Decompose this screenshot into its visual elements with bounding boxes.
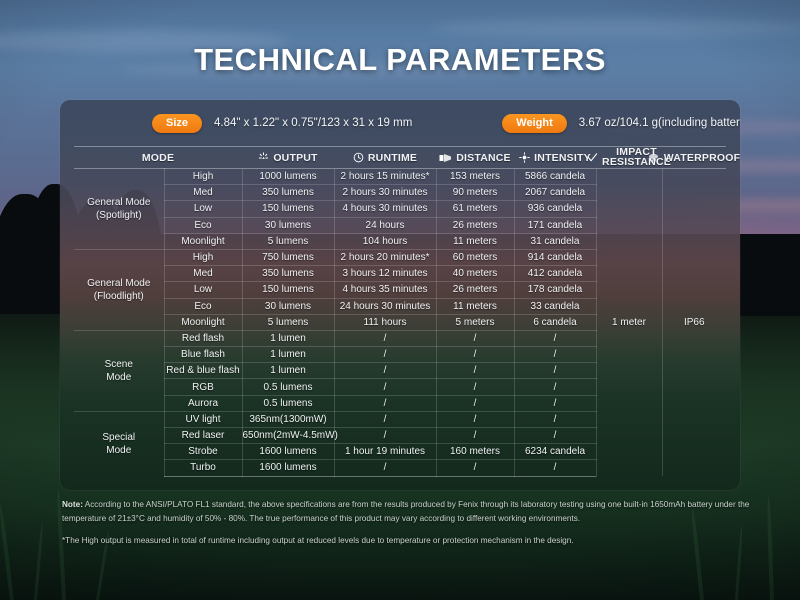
- parameters-table: MODE OUTPUT: [74, 146, 726, 477]
- cell-runtime: 4 hours 30 minutes: [334, 201, 436, 217]
- intensity-burst-icon: [519, 152, 530, 163]
- cell-distance: /: [436, 460, 514, 476]
- note-ansi: Note: According to the ANSI/PLATO FL1 st…: [62, 498, 752, 526]
- impact-resistance-value: 1 meter: [596, 169, 662, 477]
- cell-level: High: [164, 249, 242, 265]
- group-label-line2: Mode: [106, 445, 131, 456]
- cell-intensity: /: [514, 428, 596, 444]
- cell-output: 750 lumens: [242, 249, 334, 265]
- cell-runtime: 24 hours: [334, 217, 436, 233]
- cell-intensity: /: [514, 395, 596, 411]
- cell-runtime: /: [334, 460, 436, 476]
- header-output: OUTPUT: [242, 147, 334, 169]
- cell-level: Red laser: [164, 428, 242, 444]
- cell-distance: 153 meters: [436, 169, 514, 185]
- header-impact-resistance-label: IMPACT RESISTANCE: [602, 148, 671, 167]
- waterproof-value: IP66: [662, 169, 726, 477]
- cell-output: 150 lumens: [242, 201, 334, 217]
- weight-value: 3.67 oz/104.1 g(including battery): [579, 117, 740, 129]
- group-label-scene-mode: SceneMode: [74, 330, 164, 411]
- size-value: 4.84" x 1.22" x 0.75"/123 x 31 x 19 mm: [214, 117, 412, 129]
- cell-runtime: 1 hour 19 minutes: [334, 444, 436, 460]
- group-label-special-mode: SpecialMode: [74, 411, 164, 476]
- cell-level: Med: [164, 185, 242, 201]
- weight-spec: Weight 3.67 oz/104.1 g(including battery…: [502, 114, 740, 133]
- cell-level: Eco: [164, 217, 242, 233]
- header-distance-label: DISTANCE: [456, 152, 511, 164]
- group-label-line2: (Spotlight): [96, 210, 142, 221]
- cell-intensity: 178 candela: [514, 282, 596, 298]
- cell-level: Aurora: [164, 395, 242, 411]
- cell-runtime: /: [334, 347, 436, 363]
- cell-runtime: 24 hours 30 minutes: [334, 298, 436, 314]
- cell-runtime: 2 hours 30 minutes: [334, 185, 436, 201]
- cell-distance: 60 meters: [436, 249, 514, 265]
- cell-intensity: /: [514, 363, 596, 379]
- cell-output: 350 lumens: [242, 185, 334, 201]
- clock-icon: [353, 152, 364, 163]
- header-intensity: INTENSITY: [514, 147, 596, 169]
- water-drops-icon: [648, 153, 660, 163]
- cell-level: High: [164, 169, 242, 185]
- cell-output: 1600 lumens: [242, 444, 334, 460]
- cell-intensity: 6 candela: [514, 314, 596, 330]
- cell-distance: 11 meters: [436, 233, 514, 249]
- group-label-line2: (Floodlight): [94, 291, 144, 302]
- cell-level: Med: [164, 266, 242, 282]
- cell-output: 1 lumen: [242, 363, 334, 379]
- weight-badge: Weight: [502, 114, 566, 133]
- cell-runtime: 111 hours: [334, 314, 436, 330]
- header-output-label: OUTPUT: [273, 152, 317, 164]
- cell-output: 350 lumens: [242, 266, 334, 282]
- cell-intensity: 33 candela: [514, 298, 596, 314]
- cell-output: 1 lumen: [242, 330, 334, 346]
- note-prefix: Note:: [62, 500, 83, 509]
- cell-output: 1000 lumens: [242, 169, 334, 185]
- cell-distance: /: [436, 411, 514, 427]
- header-runtime-label: RUNTIME: [368, 152, 417, 164]
- cell-runtime: /: [334, 379, 436, 395]
- cell-output: 150 lumens: [242, 282, 334, 298]
- cell-distance: /: [436, 363, 514, 379]
- cell-runtime: /: [334, 330, 436, 346]
- cell-distance: 5 meters: [436, 314, 514, 330]
- cell-intensity: 31 candela: [514, 233, 596, 249]
- cell-distance: 26 meters: [436, 282, 514, 298]
- cell-level: RGB: [164, 379, 242, 395]
- brightness-icon: [258, 152, 269, 163]
- cell-level: Eco: [164, 298, 242, 314]
- cell-runtime: 2 hours 20 minutes*: [334, 249, 436, 265]
- cell-distance: /: [436, 379, 514, 395]
- cell-distance: 160 meters: [436, 444, 514, 460]
- cell-level: Blue flash: [164, 347, 242, 363]
- group-label-line1: Scene: [105, 359, 133, 370]
- cell-level: UV light: [164, 411, 242, 427]
- specs-row: Size 4.84" x 1.22" x 0.75"/123 x 31 x 19…: [60, 100, 740, 146]
- cell-runtime: /: [334, 428, 436, 444]
- cell-distance: /: [436, 330, 514, 346]
- cell-intensity: 936 candela: [514, 201, 596, 217]
- header-waterproof-label: WATERPROOF: [664, 152, 740, 164]
- cell-intensity: /: [514, 460, 596, 476]
- cell-output: 30 lumens: [242, 217, 334, 233]
- cell-output: 1600 lumens: [242, 460, 334, 476]
- group-label-line1: General Mode: [87, 278, 150, 289]
- cell-intensity: 171 candela: [514, 217, 596, 233]
- cell-level: Low: [164, 201, 242, 217]
- cell-distance: /: [436, 395, 514, 411]
- cell-runtime: /: [334, 411, 436, 427]
- cell-runtime: /: [334, 363, 436, 379]
- cell-intensity: /: [514, 330, 596, 346]
- cell-distance: 11 meters: [436, 298, 514, 314]
- cell-level: Moonlight: [164, 233, 242, 249]
- size-spec: Size 4.84" x 1.22" x 0.75"/123 x 31 x 19…: [152, 114, 412, 133]
- group-label-line1: General Mode: [87, 197, 150, 208]
- cell-intensity: /: [514, 411, 596, 427]
- cell-distance: /: [436, 347, 514, 363]
- group-label-general-mode-floodlight: General Mode(Floodlight): [74, 249, 164, 330]
- cell-level: Turbo: [164, 460, 242, 476]
- cell-level: Red flash: [164, 330, 242, 346]
- header-distance: DISTANCE: [436, 147, 514, 169]
- cell-level: Low: [164, 282, 242, 298]
- cell-output: 5 lumens: [242, 314, 334, 330]
- group-label-line2: Mode: [106, 372, 131, 383]
- group-label-line1: Special: [102, 432, 135, 443]
- header-waterproof: WATERPROOF: [662, 147, 726, 169]
- table-header-row: MODE OUTPUT: [74, 147, 726, 169]
- cell-intensity: 412 candela: [514, 266, 596, 282]
- cell-level: Red & blue flash: [164, 363, 242, 379]
- cell-level: Moonlight: [164, 314, 242, 330]
- cell-runtime: 2 hours 15 minutes*: [334, 169, 436, 185]
- cell-output: 0.5 lumens: [242, 379, 334, 395]
- cell-intensity: 914 candela: [514, 249, 596, 265]
- header-intensity-label: INTENSITY: [534, 152, 591, 164]
- cell-intensity: /: [514, 379, 596, 395]
- cell-output: 650nm(2mW-4.5mW): [242, 428, 334, 444]
- cell-distance: 61 meters: [436, 201, 514, 217]
- header-mode-label: MODE: [142, 152, 174, 164]
- cell-intensity: /: [514, 347, 596, 363]
- cell-output: 30 lumens: [242, 298, 334, 314]
- cell-output: 5 lumens: [242, 233, 334, 249]
- header-runtime: RUNTIME: [334, 147, 436, 169]
- cell-intensity: 6234 candela: [514, 444, 596, 460]
- size-badge: Size: [152, 114, 202, 133]
- cell-level: Strobe: [164, 444, 242, 460]
- impact-line2: RESISTANCE: [602, 156, 671, 168]
- beam-distance-icon: [439, 153, 452, 163]
- footer-notes: Note: According to the ANSI/PLATO FL1 st…: [62, 498, 752, 548]
- header-mode: MODE: [74, 147, 242, 169]
- cell-intensity: 5866 candela: [514, 169, 596, 185]
- cell-output: 1 lumen: [242, 347, 334, 363]
- cell-runtime: /: [334, 395, 436, 411]
- cell-intensity: 2067 candela: [514, 185, 596, 201]
- technical-parameters-panel: Size 4.84" x 1.22" x 0.75"/123 x 31 x 19…: [60, 100, 740, 490]
- group-label-general-mode-spotlight: General Mode(Spotlight): [74, 169, 164, 250]
- cell-distance: 90 meters: [436, 185, 514, 201]
- cell-output: 0.5 lumens: [242, 395, 334, 411]
- table-body: General Mode(Spotlight)High1000 lumens2 …: [74, 169, 726, 477]
- cell-distance: /: [436, 428, 514, 444]
- page-title: TECHNICAL PARAMETERS: [0, 42, 800, 78]
- checkmark-icon: [587, 152, 598, 163]
- cell-distance: 26 meters: [436, 217, 514, 233]
- cell-runtime: 3 hours 12 minutes: [334, 266, 436, 282]
- cell-distance: 40 meters: [436, 266, 514, 282]
- cell-runtime: 104 hours: [334, 233, 436, 249]
- note-high-output: *The High output is measured in total of…: [62, 534, 752, 548]
- cell-output: 365nm(1300mW): [242, 411, 334, 427]
- cell-runtime: 4 hours 35 minutes: [334, 282, 436, 298]
- table-row: General Mode(Spotlight)High1000 lumens2 …: [74, 169, 726, 185]
